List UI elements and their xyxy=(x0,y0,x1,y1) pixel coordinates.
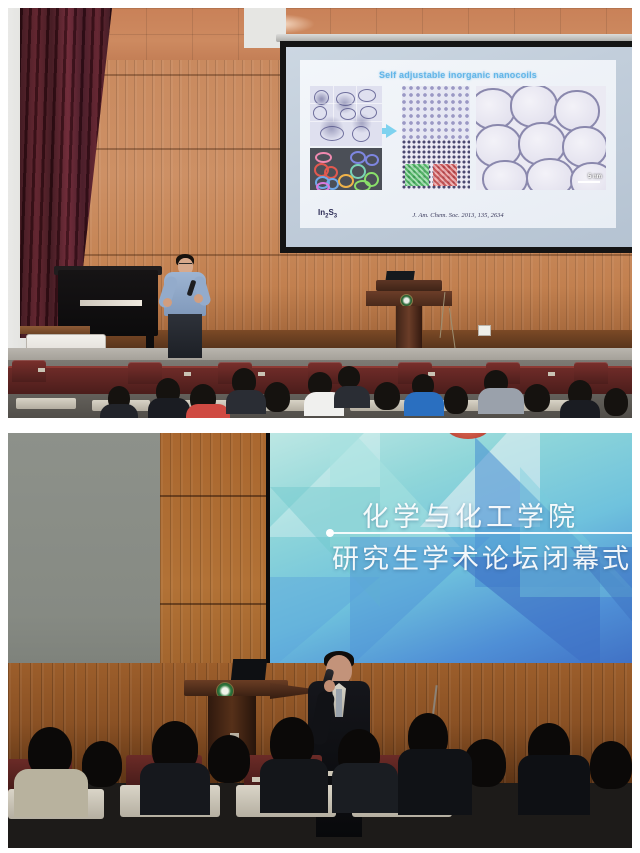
wall-seam xyxy=(160,495,280,497)
scale-bar xyxy=(578,181,600,183)
presentation-slide: Self adjustable inorganic nanocoils xyxy=(300,60,616,228)
green-overlay xyxy=(405,164,429,186)
podium-laptop xyxy=(231,659,267,681)
speaker-left-hand xyxy=(163,298,172,307)
lecture-hall-speaker-photo: Self adjustable inorganic nanocoils xyxy=(8,8,632,418)
slide-heading-line2: 研究生学术论坛闭幕式 xyxy=(332,537,632,576)
scale-bar-label: 5 nm xyxy=(588,174,602,180)
slide-heading-line1: 化学与化工学院 xyxy=(362,495,632,534)
slide-figure-area: 5 nm xyxy=(310,86,606,190)
projection-screen: 化学与化工学院 研究生学术论坛闭幕式 xyxy=(270,433,632,665)
slide-divider-line xyxy=(330,532,632,534)
wall-seam xyxy=(160,603,280,605)
host-tie xyxy=(336,689,342,717)
high-mag-tem-panel: 5 nm xyxy=(476,86,606,190)
photo-collage-page: Self adjustable inorganic nanocoils xyxy=(0,0,640,853)
host-hand xyxy=(324,680,335,692)
audience-area xyxy=(8,360,632,418)
red-overlay xyxy=(433,164,457,186)
slide-title: Self adjustable inorganic nanocoils xyxy=(300,70,616,80)
wall-socket xyxy=(478,325,491,336)
lattice-panel xyxy=(402,86,470,190)
side-table xyxy=(20,326,90,334)
slide-citation: J. Am. Chem. Soc. 2013, 135, 2634 xyxy=(300,212,616,219)
speaker-right-hand xyxy=(194,294,203,303)
coil-schematic-panel xyxy=(310,148,382,190)
transform-arrow-icon xyxy=(386,124,397,138)
speaker-glasses xyxy=(179,263,192,268)
closing-ceremony-photo: 化学与化工学院 研究生学术论坛闭幕式 xyxy=(8,433,632,848)
wall-seam xyxy=(8,254,632,256)
audience-area xyxy=(8,733,632,848)
piano-keys xyxy=(80,300,142,306)
podium-desktop xyxy=(376,280,442,291)
tem-micrograph-panel xyxy=(310,86,382,146)
speaker-trousers xyxy=(168,314,202,358)
